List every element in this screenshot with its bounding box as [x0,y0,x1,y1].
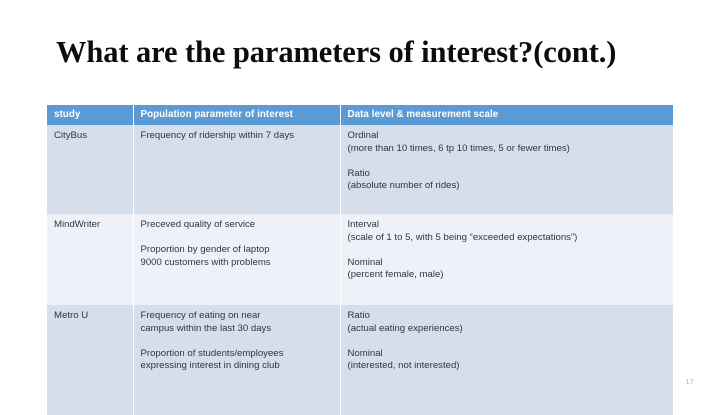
text-line: Proportion by gender of laptop [141,244,333,257]
cell-study: MindWriter [47,214,133,305]
table-header: study Population parameter of interest D… [47,105,673,125]
table-body: CityBus Frequency of ridership within 7 … [47,125,673,415]
text-line: (actual eating experiences) [348,323,667,336]
cell-data-level: Interval (scale of 1 to 5, with 5 being … [340,214,673,305]
text-line: (scale of 1 to 5, with 5 being “exceeded… [348,232,667,245]
parameters-table: study Population parameter of interest D… [47,105,673,415]
cell-population-parameter: Frequency of eating on near campus withi… [133,305,340,415]
column-header-study: study [47,105,133,125]
cell-population-parameter: Frequency of ridership within 7 days [133,125,340,214]
column-header-population-parameter: Population parameter of interest [133,105,340,125]
table-row: CityBus Frequency of ridership within 7 … [47,125,673,214]
text-spacer [141,232,333,245]
cell-data-level: Ordinal (more than 10 times, 6 tp 10 tim… [340,125,673,214]
cell-population-parameter: Preceved quality of service Proportion b… [133,214,340,305]
slide-number: 17 [686,379,694,386]
cell-study: Metro U [47,305,133,415]
text-line: Ratio [348,310,667,323]
text-spacer [141,335,333,348]
text-spacer [348,244,667,257]
text-line: Frequency of eating on near [141,310,333,323]
table-row: Metro U Frequency of eating on near camp… [47,305,673,415]
parameters-table-container: study Population parameter of interest D… [47,105,673,415]
text-spacer [348,155,667,168]
text-line: Ordinal [348,130,667,143]
text-line: expressing interest in dining club [141,360,333,373]
text-line: (percent female, male) [348,269,667,282]
text-line: (more than 10 times, 6 tp 10 times, 5 or… [348,143,667,156]
text-line: Nominal [348,257,667,270]
table-row: MindWriter Preceved quality of service P… [47,214,673,305]
slide: What are the parameters of interest?(con… [0,0,720,404]
text-line: Ratio [348,168,667,181]
text-line: Nominal [348,348,667,361]
table-header-row: study Population parameter of interest D… [47,105,673,125]
text-line: campus within the last 30 days [141,323,333,336]
text-line: (absolute number of rides) [348,180,667,193]
text-line: 9000 customers with problems [141,257,333,270]
column-header-data-level: Data level & measurement scale [340,105,673,125]
text-line: Preceved quality of service [141,219,333,232]
text-line: Frequency of ridership within 7 days [141,130,333,143]
cell-data-level: Ratio (actual eating experiences) Nomina… [340,305,673,415]
cell-study: CityBus [47,125,133,214]
text-spacer [348,335,667,348]
text-line: Proportion of students/employees [141,348,333,361]
page-title: What are the parameters of interest?(con… [56,34,686,70]
text-line: (interested, not interested) [348,360,667,373]
text-line: Interval [348,219,667,232]
